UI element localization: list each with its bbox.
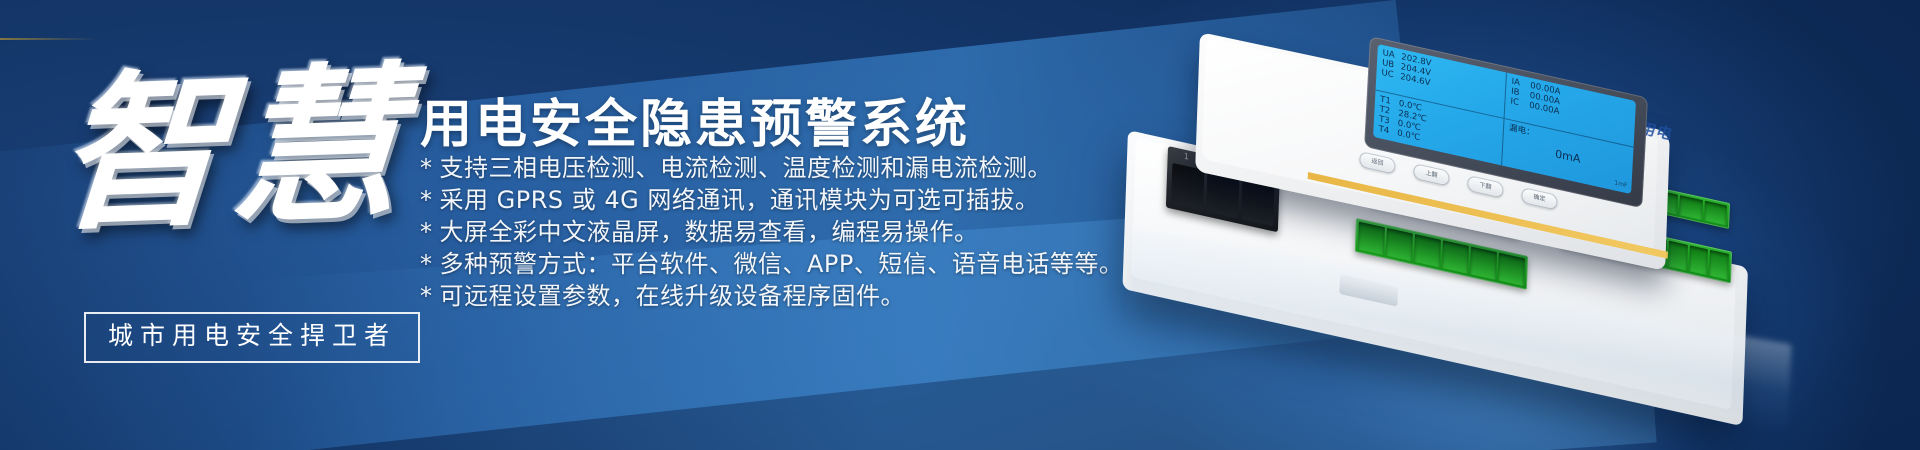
device-green-terminal-block [1579, 170, 1730, 229]
device-black-terminal-block: 1 2 3 [1166, 146, 1280, 232]
device-lcd-bezel [1364, 36, 1648, 208]
device-lower-housing [1122, 130, 1748, 426]
lcd-row-value: 28.2℃ [1398, 109, 1427, 125]
lcd-row-label: IA [1511, 77, 1528, 90]
lcd-current-panel: IA 00.00A IB 00.00A IC 00.00A [1505, 73, 1636, 148]
device-green-terminal-block [1355, 218, 1528, 290]
terminal-port [1582, 174, 1605, 199]
bullet-marker-icon: * [420, 154, 433, 182]
lcd-temperature-panel: T1 0.0℃ T2 28.2℃ T3 0.0℃ T4 0.0℃ [1373, 90, 1504, 165]
calligraphy-title: 智慧 [49, 18, 408, 280]
lcd-row: UA 202.8V [1382, 48, 1501, 84]
lcd-row: IA 00.00A [1511, 77, 1631, 113]
terminal-port [1386, 228, 1413, 262]
terminal-port [1680, 195, 1703, 220]
device-side-label: 电源 通讯 信号 采样 [1400, 164, 1570, 216]
terminal-port [1704, 201, 1727, 226]
lcd-row: IC 00.00A [1510, 96, 1630, 132]
list-item-label: 可远程设置参数，在线升级设备程序固件。 [440, 282, 906, 310]
status-led-icon [1453, 142, 1460, 150]
lcd-row-value: 0.0℃ [1399, 99, 1423, 114]
lcd-row-value: 202.8V [1401, 52, 1432, 69]
device-lcd-screen: UA 202.8V UB 204.4V UC 204.6V IA 00.00A … [1373, 44, 1636, 194]
lcd-row-label: T2 [1379, 104, 1396, 117]
list-item-label: 支持三相电压检测、电流检测、温度检测和漏电流检测。 [440, 154, 1053, 182]
lcd-row-value: 0.0℃ [1397, 128, 1421, 143]
list-item: *大屏全彩中文液晶屏，数据易查看，编程易操作。 [420, 216, 1140, 248]
tagline-badge: 城市用电安全捍卫者 [84, 312, 420, 363]
lcd-row-label: UC [1381, 68, 1398, 81]
device-green-terminal-block [1561, 214, 1732, 283]
list-item-label: 采用 GPRS 或 4G 网络通讯，通讯模块为可选可插拔。 [440, 186, 1040, 214]
terminal-port [1432, 194, 1459, 220]
lcd-row-value: 204.6V [1400, 72, 1431, 89]
lcd-row: T4 0.0℃ [1378, 124, 1497, 160]
terminal-port [1607, 179, 1630, 204]
device-button-confirm[interactable]: 确定 [1521, 187, 1558, 211]
terminal-port [1647, 236, 1667, 266]
page-title: 用电安全隐患预警系统 [420, 82, 970, 157]
bullet-marker-icon: * [420, 282, 433, 310]
terminal-numbers: 1 2 3 [1168, 148, 1280, 182]
terminal-pin [1241, 179, 1274, 227]
status-label: 运行 报警 通讯 故障 [1471, 145, 1547, 171]
device-green-terminal-block [1371, 178, 1520, 237]
terminal-port [1564, 218, 1584, 248]
status-led-icon [1399, 130, 1406, 138]
status-led-icon [1417, 134, 1424, 142]
list-item: *支持三相电压检测、电流检测、温度检测和漏电流检测。 [420, 152, 1140, 184]
terminal-number: 1 [1184, 152, 1189, 162]
promo-banner: 智慧 城市用电安全捍卫者 用电安全隐患预警系统 *支持三相电压检测、电流检测、温… [0, 0, 1920, 450]
terminal-port [1414, 234, 1441, 268]
terminal-number: 2 [1221, 160, 1226, 170]
lcd-row-label: T3 [1379, 114, 1396, 127]
lcd-row-label: T4 [1378, 124, 1395, 137]
list-item: *可远程设置参数，在线升级设备程序固件。 [420, 280, 1140, 312]
terminal-port [1470, 246, 1497, 280]
terminal-port [1688, 245, 1708, 275]
list-item: *采用 GPRS 或 4G 网络通讯，通讯模块为可选可插拔。 [420, 184, 1140, 216]
terminal-pin [1171, 163, 1204, 211]
lcd-row-label: IB [1511, 87, 1528, 100]
top-accent-line [0, 38, 96, 40]
device-din-rail-clip [1339, 274, 1398, 307]
terminal-port [1631, 184, 1654, 209]
terminal-port [1358, 222, 1385, 256]
lcd-leakage-value: 0mA [1508, 133, 1628, 177]
feature-list: *支持三相电压检测、电流检测、温度检测和漏电流检测。 *采用 GPRS 或 4G… [420, 152, 1140, 312]
device-status-led-row: 运行 报警 通讯 故障 [1399, 126, 1580, 182]
terminal-port [1655, 190, 1678, 215]
lcd-row: UC 204.6V [1381, 68, 1500, 104]
status-led-icon [1435, 138, 1442, 146]
list-item-label: 大屏全彩中文液晶屏，数据易查看，编程易操作。 [440, 218, 979, 246]
lcd-row-value: 00.00A [1529, 91, 1560, 108]
terminal-port [1709, 250, 1729, 280]
lcd-row-label: T1 [1380, 95, 1397, 108]
lcd-row: IB 00.00A [1511, 87, 1631, 123]
terminal-port [1403, 188, 1430, 214]
terminal-port [1461, 201, 1488, 227]
device-amber-stripe [1308, 172, 1668, 259]
device-button-up[interactable]: 上翻 [1413, 163, 1450, 187]
terminal-port [1668, 241, 1688, 271]
lcd-row-value: 0.0℃ [1398, 118, 1422, 133]
lcd-leakage-label: 漏电： [1509, 123, 1629, 159]
terminal-port [1374, 182, 1401, 208]
device-button-row: 返回 上翻 下翻 确定 [1359, 148, 1600, 223]
terminal-port [1489, 207, 1516, 233]
lcd-row-label: UB [1382, 58, 1399, 71]
terminal-pin [1206, 171, 1239, 219]
device-button-back[interactable]: 返回 [1359, 151, 1396, 175]
lcd-voltage-panel: UA 202.8V UB 204.4V UC 204.6V [1376, 44, 1507, 119]
lcd-corner-mark: 1mF [1614, 178, 1628, 191]
lcd-row: T3 0.0℃ [1379, 114, 1498, 150]
terminal-port [1605, 227, 1625, 257]
product-device-image: 1 2 3 电源 通讯 信号 采样 [1110, 18, 1920, 348]
lcd-row-label: UA [1382, 48, 1399, 61]
device-reflection [1128, 228, 1791, 434]
device-upper-housing [1195, 32, 1670, 271]
lcd-row-value: 204.4V [1400, 62, 1431, 79]
lcd-row-value: 00.00A [1529, 101, 1560, 118]
terminal-port [1498, 253, 1525, 287]
device-lower-face [1131, 138, 1736, 410]
lcd-row-value: 00.00A [1530, 81, 1561, 98]
terminal-port [1585, 222, 1605, 252]
list-item-label: 多种预警方式：平台软件、微信、APP、短信、语音电话等等。 [440, 250, 1124, 278]
lcd-row: T1 0.0℃ [1380, 95, 1499, 131]
bullet-marker-icon: * [420, 218, 433, 246]
lcd-row: T2 28.2℃ [1379, 104, 1498, 140]
lcd-row-label: IC [1510, 96, 1527, 109]
bullet-marker-icon: * [420, 186, 433, 214]
background-glow-bottom-right [1080, 50, 1920, 450]
terminal-number: 3 [1258, 168, 1263, 178]
terminal-port [1442, 240, 1469, 274]
lcd-leakage-panel: 漏电： 0mA 1mF [1502, 119, 1633, 194]
lcd-row: UB 204.4V [1382, 58, 1501, 94]
device-button-down[interactable]: 下翻 [1467, 175, 1504, 199]
terminal-port [1626, 231, 1646, 261]
bullet-marker-icon: * [420, 250, 433, 278]
device-upper-face [1202, 38, 1658, 255]
device-brand-mark: 智慧用电 [1578, 104, 1700, 163]
list-item: *多种预警方式：平台软件、微信、APP、短信、语音电话等等。 [420, 248, 1140, 280]
